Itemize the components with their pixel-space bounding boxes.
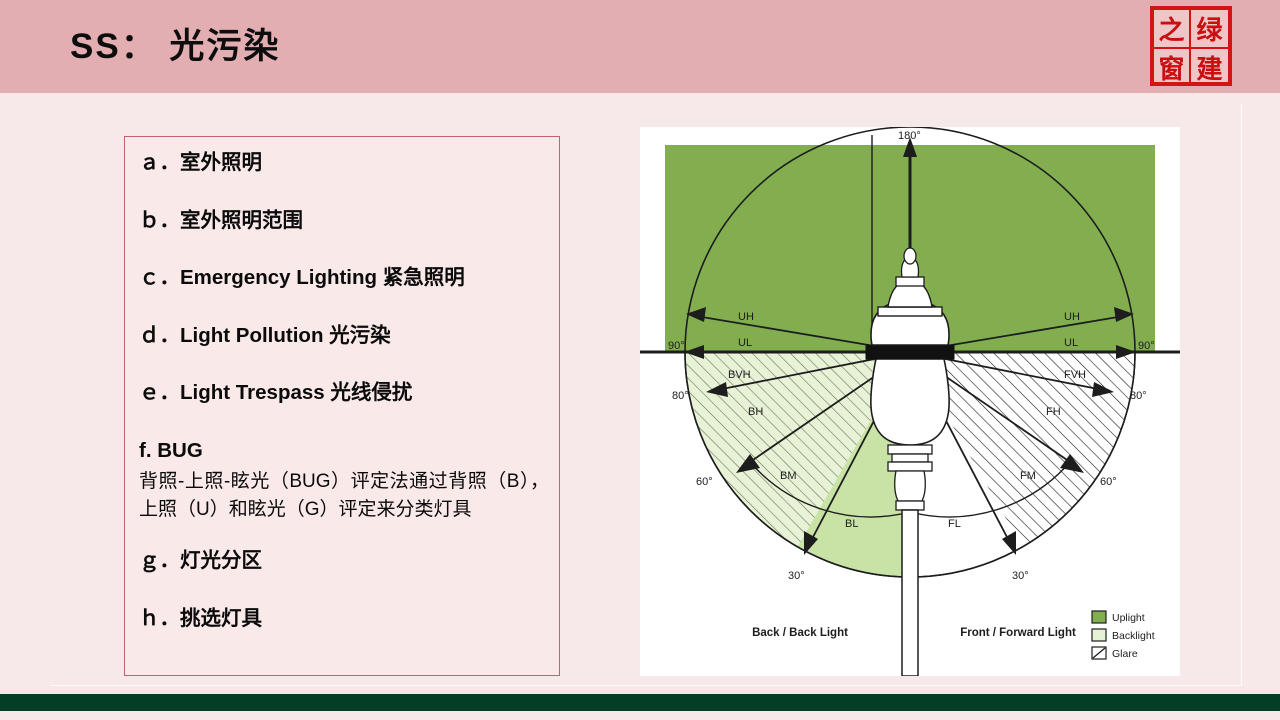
label-ul-left: UL bbox=[738, 337, 752, 349]
list-item-c: ｃ．Emergency Lighting 紧急照明 bbox=[139, 266, 559, 290]
label-fvh: FVH bbox=[1064, 369, 1086, 381]
logo-char-3: 窗 bbox=[1154, 49, 1191, 86]
label-bvh: BVH bbox=[728, 369, 751, 381]
label-uh-left: UH bbox=[738, 311, 754, 323]
label-angle-right-80: 80° bbox=[1130, 390, 1147, 402]
bottom-padding bbox=[0, 711, 1280, 720]
bug-diagram-svg: UH UH UL UL BVH FVH BH FH BM FM BL FL 90… bbox=[640, 127, 1180, 676]
legend-swatch-backlight bbox=[1092, 629, 1106, 641]
label-fm: FM bbox=[1020, 470, 1036, 482]
label-angle-right-90: 90° bbox=[1138, 340, 1155, 352]
legend-label-glare: Glare bbox=[1112, 648, 1138, 660]
logo-char-4: 建 bbox=[1191, 49, 1228, 86]
label-bl: BL bbox=[845, 518, 858, 530]
list-item-d: ｄ．Light Pollution 光污染 bbox=[139, 324, 559, 348]
list-item-f-body: 背照-上照-眩光（BUG）评定法通过背照（B），上照（U）和眩光（G）评定来分类… bbox=[139, 468, 549, 523]
legend-label-uplight: Uplight bbox=[1112, 612, 1145, 624]
label-angle-left-30: 30° bbox=[788, 570, 805, 582]
label-angle-right-60: 60° bbox=[1100, 476, 1117, 488]
bottom-accent-bar bbox=[0, 694, 1280, 711]
label-fl: FL bbox=[948, 518, 961, 530]
label-angle-left-80: 80° bbox=[672, 390, 689, 402]
list-item-a: ａ．室外照明 bbox=[139, 151, 559, 175]
slide-canvas: SS： 光污染 之 绿 窗 建 ａ．室外照明 ｂ．室外照明范围 ｃ．Emerge… bbox=[0, 0, 1280, 720]
list-item-g: ｇ．灯光分区 bbox=[139, 549, 559, 573]
bug-rating-diagram: UH UH UL UL BVH FVH BH FH BM FM BL FL 90… bbox=[640, 127, 1180, 676]
logo-char-2: 绿 bbox=[1191, 10, 1228, 49]
outline-list-box: ａ．室外照明 ｂ．室外照明范围 ｃ．Emergency Lighting 紧急照… bbox=[124, 136, 560, 676]
legend-swatch-uplight bbox=[1092, 611, 1106, 623]
label-angle-left-90: 90° bbox=[668, 340, 685, 352]
caption-back: Back / Back Light bbox=[752, 627, 848, 639]
label-angle-right-30: 30° bbox=[1012, 570, 1029, 582]
list-item-b: ｂ．室外照明范围 bbox=[139, 209, 559, 233]
list-item-e: ｅ．Light Trespass 光线侵扰 bbox=[139, 381, 559, 405]
label-angle-180: 180° bbox=[898, 130, 921, 142]
label-bm: BM bbox=[780, 470, 797, 482]
label-angle-left-60: 60° bbox=[696, 476, 713, 488]
logo-char-1: 之 bbox=[1154, 10, 1191, 49]
diagram-legend: Uplight Backlight Glare bbox=[1092, 611, 1155, 660]
caption-front: Front / Forward Light bbox=[960, 627, 1076, 639]
label-bh: BH bbox=[748, 406, 763, 418]
page-title: SS： 光污染 bbox=[70, 18, 280, 69]
label-uh-right: UH bbox=[1064, 311, 1080, 323]
list-item-h: ｈ．挑选灯具 bbox=[139, 607, 559, 631]
list-item-f-title: f. BUG bbox=[139, 439, 559, 463]
label-ul-right: UL bbox=[1064, 337, 1078, 349]
brand-logo-seal: 之 绿 窗 建 bbox=[1150, 6, 1232, 86]
legend-label-backlight: Backlight bbox=[1112, 630, 1155, 642]
label-fh: FH bbox=[1046, 406, 1061, 418]
